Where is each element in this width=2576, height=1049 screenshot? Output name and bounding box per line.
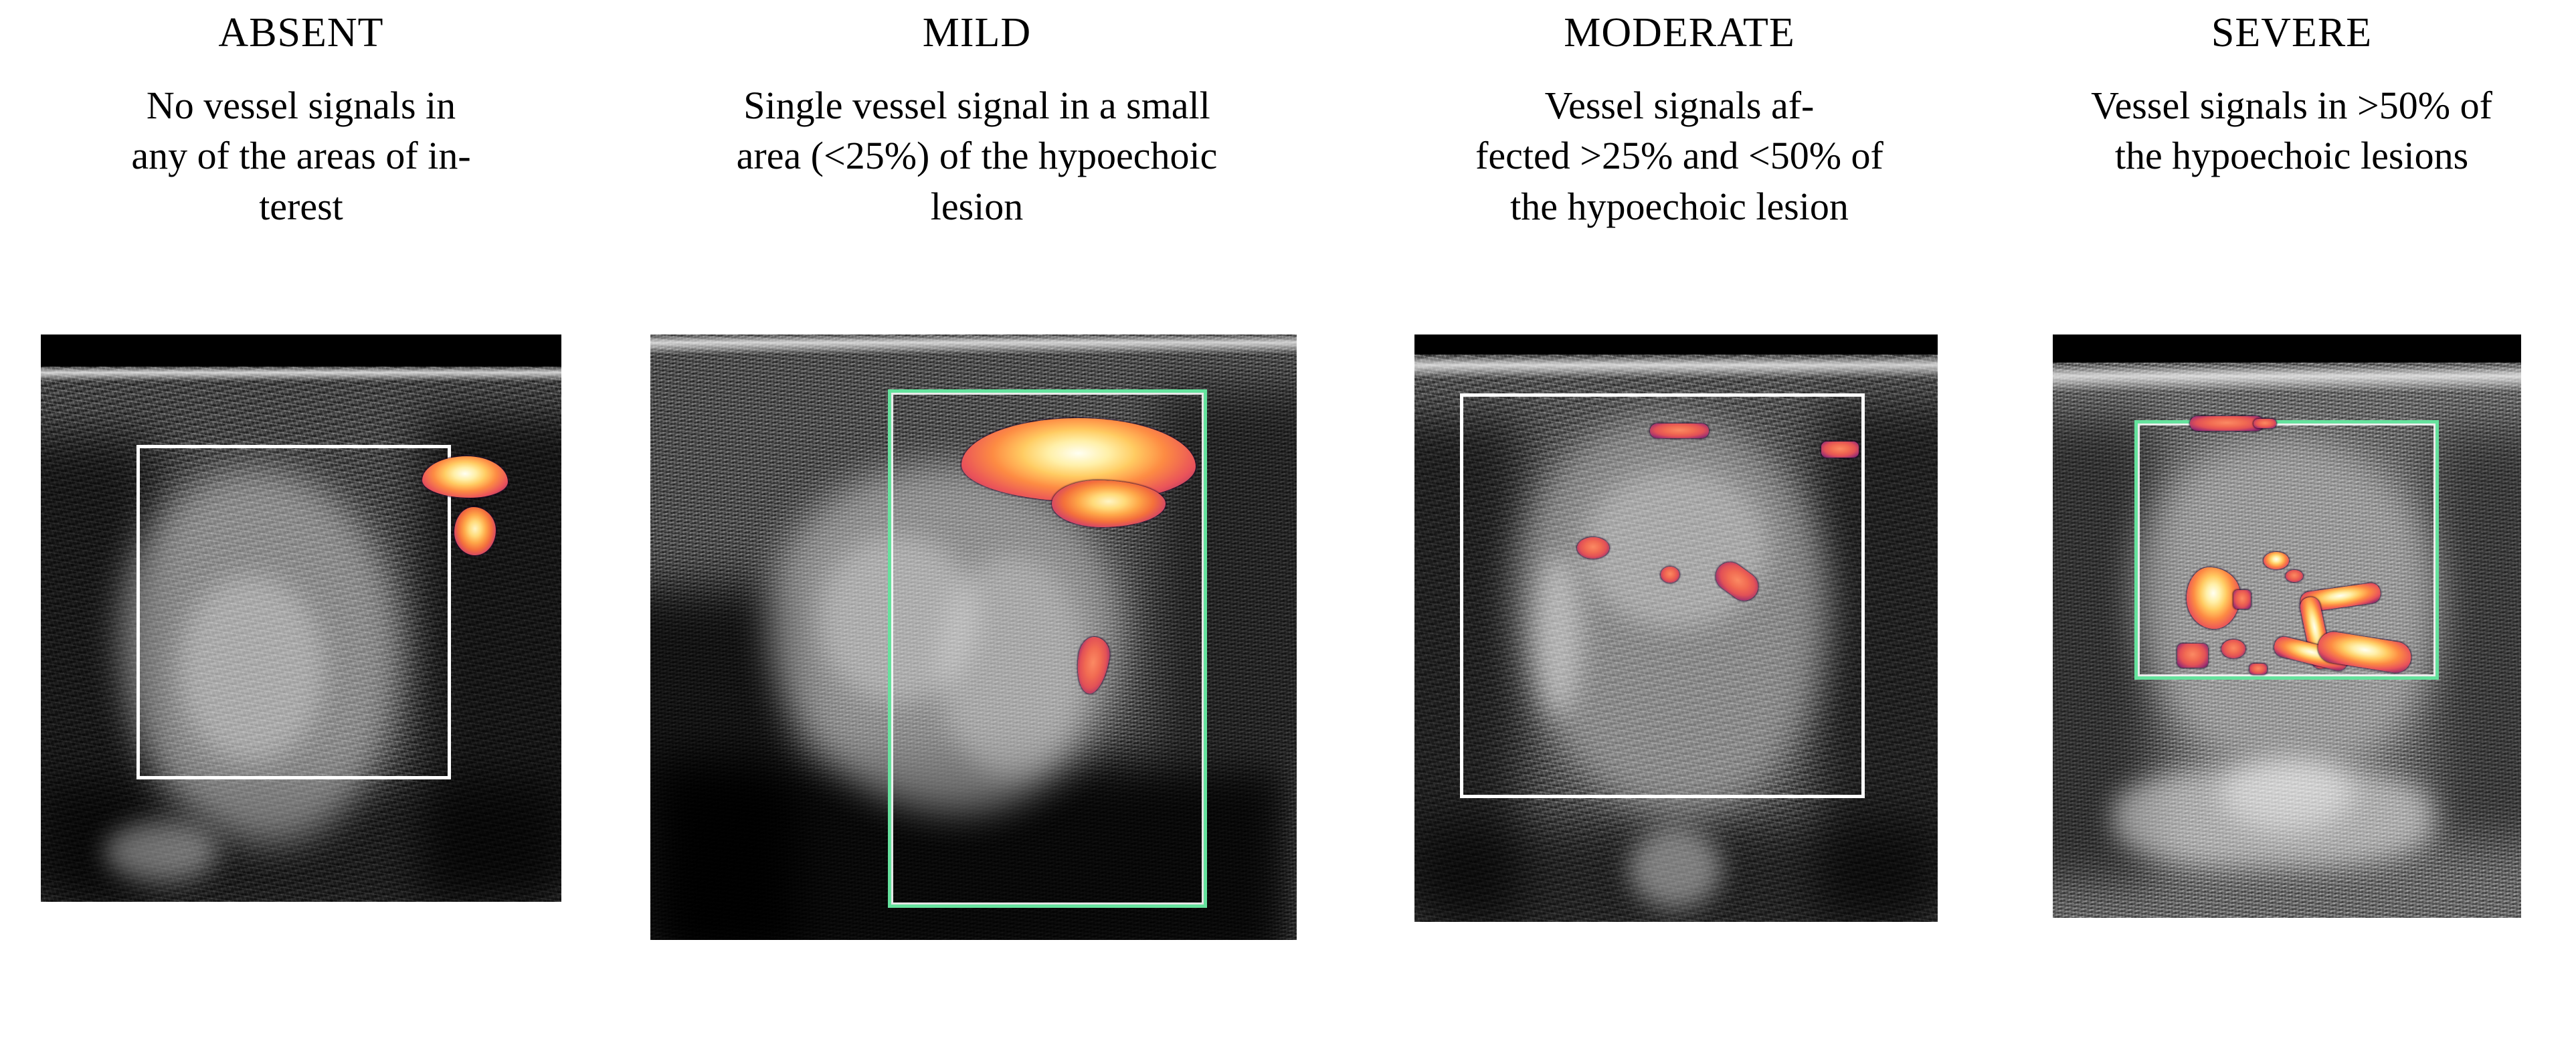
vessel-signal xyxy=(1661,567,1679,583)
grade-header-absent-label: ABSENT xyxy=(218,12,383,54)
transducer-dead-zone xyxy=(41,335,561,367)
image-cell-absent xyxy=(0,335,602,1049)
transducer-dead-zone xyxy=(1414,335,1938,355)
description-line: lesion xyxy=(609,181,1345,231)
grade-description-severe: Vessel signals in >50% of the hypoechoic… xyxy=(2007,80,2576,335)
vessel-signal xyxy=(2253,419,2276,428)
vessel-signal xyxy=(1577,537,1609,559)
grade-description-absent: No vessel signals in any of the areas of… xyxy=(0,80,602,335)
skin-fascia-line xyxy=(1414,356,1938,379)
description-line: area (<25%) of the hypoechoic xyxy=(609,130,1345,181)
ultrasound-image-moderate[interactable] xyxy=(1414,335,1938,922)
description-line: No vessel signals in xyxy=(7,80,595,130)
skin-fascia-line xyxy=(2053,365,2521,392)
grade-description-moderate: Vessel signals af- fected >25% and <50% … xyxy=(1352,80,2007,335)
deep-bright-spot xyxy=(2220,757,2354,831)
ultrasound-image-mild[interactable] xyxy=(650,335,1297,940)
image-cell-moderate xyxy=(1352,335,2007,1049)
description-line: fected >25% and <50% of xyxy=(1358,130,2001,181)
deep-bright-spot xyxy=(104,822,218,882)
description-line: any of the areas of in- xyxy=(7,130,595,181)
ultrasound-image-absent[interactable] xyxy=(41,335,561,902)
description-line: terest xyxy=(7,181,595,231)
grade-header-moderate-label: MODERATE xyxy=(1564,12,1795,54)
description-line: Vessel signals af- xyxy=(1358,80,2001,130)
vessel-signal xyxy=(2187,567,2240,629)
grade-header-moderate: MODERATE xyxy=(1352,0,2007,80)
skin-fascia-line xyxy=(41,367,561,381)
grade-header-severe: SEVERE xyxy=(2007,0,2576,80)
vessel-signal xyxy=(1650,423,1709,438)
vessel-signal xyxy=(2264,552,2289,569)
skin-fascia-line xyxy=(650,335,1297,355)
vessel-signal xyxy=(1821,442,1859,458)
dark-tissue-right xyxy=(2434,428,2521,843)
vessel-signal xyxy=(2233,590,2251,609)
vessel-signal xyxy=(2249,664,2267,674)
grade-header-mild-label: MILD xyxy=(923,12,1031,54)
description-line: Single vessel signal in a small xyxy=(609,80,1345,130)
deep-bright-spot xyxy=(1629,828,1722,909)
image-cell-mild xyxy=(602,335,1352,1049)
white-roi-box[interactable] xyxy=(1460,393,1865,798)
transducer-dead-zone xyxy=(2053,335,2521,363)
description-line: the hypoechoic lesions xyxy=(2014,130,2569,181)
grade-header-mild: MILD xyxy=(602,0,1352,80)
vessel-signal xyxy=(2221,640,2245,658)
vessel-signal xyxy=(2286,570,2303,582)
description-line: the hypoechoic lesion xyxy=(1358,181,2001,231)
image-cell-severe xyxy=(2007,335,2576,1049)
vascularity-grading-figure: ABSENT MILD MODERATE SEVERE No vessel si… xyxy=(0,0,2576,1049)
grade-description-mild: Single vessel signal in a small area (<2… xyxy=(602,80,1352,335)
vessel-signal xyxy=(2177,644,2208,668)
white-roi-box[interactable] xyxy=(136,445,451,779)
ultrasound-image-severe[interactable] xyxy=(2053,335,2521,918)
description-line: Vessel signals in >50% of xyxy=(2014,80,2569,130)
grade-header-severe-label: SEVERE xyxy=(2211,12,2372,54)
vessel-signal xyxy=(2190,416,2264,431)
grade-header-absent: ABSENT xyxy=(0,0,602,80)
vessel-signal xyxy=(454,507,496,555)
